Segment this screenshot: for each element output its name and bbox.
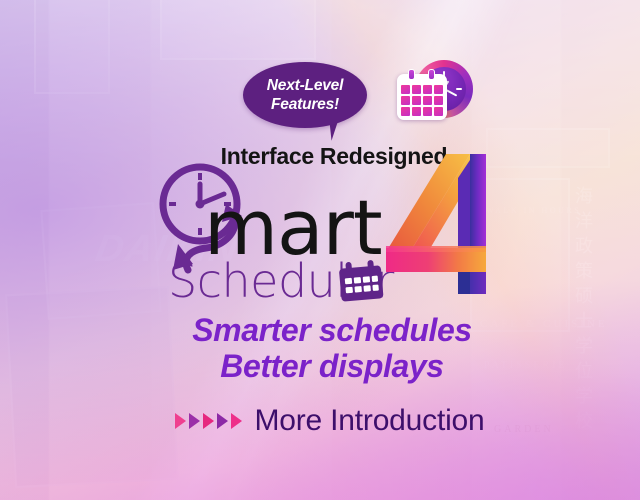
logo-version-number xyxy=(386,148,502,296)
play-triangle-icon xyxy=(231,413,242,429)
calendar-day-cell xyxy=(412,96,421,105)
calendar-day-grid xyxy=(401,85,443,116)
calendar-day-cell xyxy=(434,85,443,94)
tagline-line-1: Smarter schedules xyxy=(24,312,640,348)
play-triangle-icon xyxy=(189,413,200,429)
calendar-icon xyxy=(397,74,447,120)
next-level-features-bubble: Next-Level Features! xyxy=(243,62,367,128)
calendar-day-cell xyxy=(423,96,432,105)
bubble-line-2: Features! xyxy=(271,95,339,114)
calendar-day-cell xyxy=(423,107,432,116)
calendar-day-cell xyxy=(401,96,410,105)
cta-label[interactable]: More Introduction xyxy=(254,404,484,438)
cta-arrow-group xyxy=(175,413,242,429)
play-triangle-icon xyxy=(217,413,228,429)
calendar-day-cell xyxy=(401,107,410,116)
promo-banner: DAIKIN WALK IN HOURS CAFE & CUISINE PATI… xyxy=(0,0,640,500)
calendar-day-cell xyxy=(412,107,421,116)
calendar-ring-right xyxy=(428,69,435,80)
play-triangle-icon xyxy=(175,413,186,429)
tagline: Smarter schedules Better displays xyxy=(0,312,640,384)
calendar-day-cell xyxy=(434,96,443,105)
calendar-clock-badge-icon xyxy=(397,60,473,136)
calendar-day-cell xyxy=(412,85,421,94)
calendar-day-cell xyxy=(423,85,432,94)
clock-tick-3 xyxy=(456,88,462,90)
calendar-day-cell xyxy=(434,107,443,116)
product-logo: mart Scheduler xyxy=(148,160,508,315)
bubble-line-1: Next-Level xyxy=(267,76,343,95)
tagline-line-2: Better displays xyxy=(24,348,640,384)
calendar-icon xyxy=(336,258,385,304)
calendar-day-cell xyxy=(401,85,410,94)
play-triangle-icon xyxy=(203,413,214,429)
calendar-ring-left xyxy=(408,69,415,80)
more-introduction-cta[interactable]: More Introduction xyxy=(0,404,640,438)
